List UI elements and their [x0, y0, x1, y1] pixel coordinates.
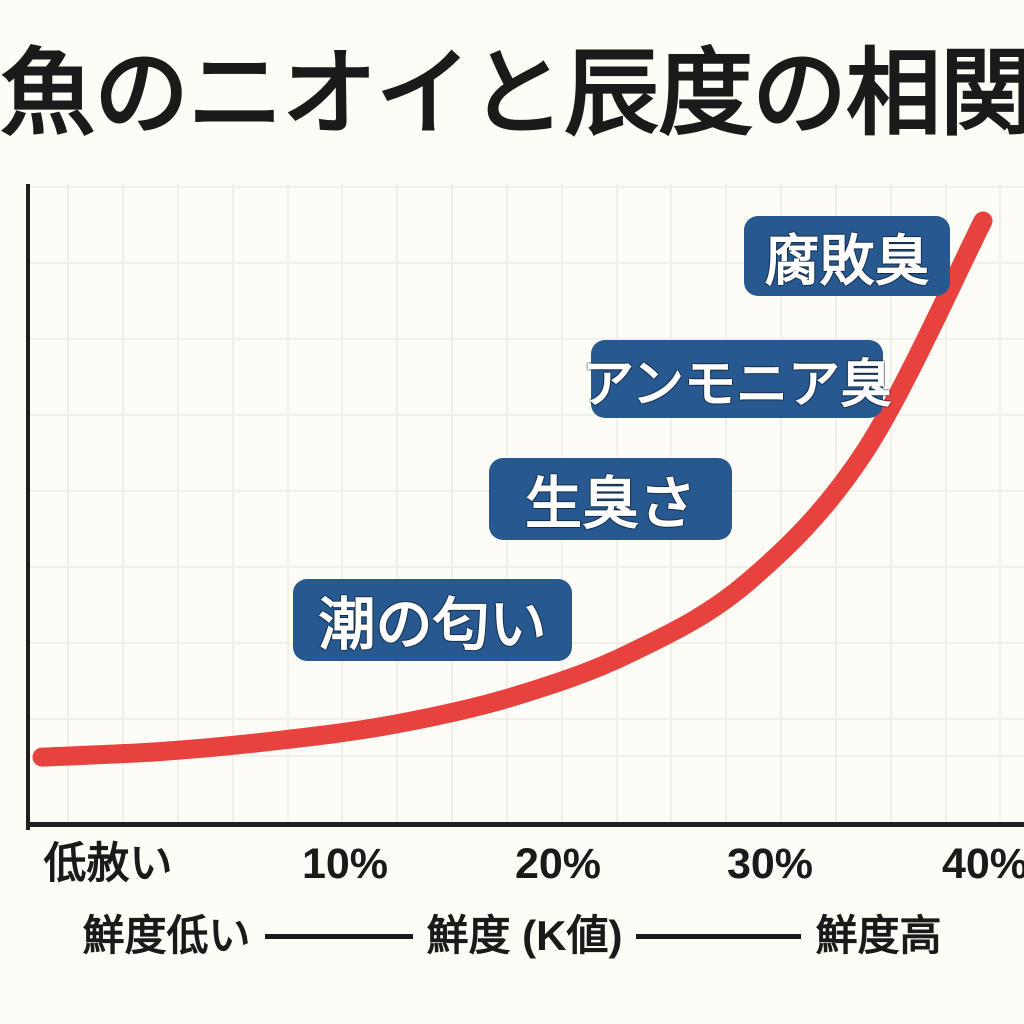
x-tick-label-0: 低赦い [18, 838, 198, 890]
caption-rule-left [265, 934, 413, 939]
x-tick-label-3: 30% [690, 838, 850, 890]
gridline-horizontal [27, 338, 1024, 340]
gridline-horizontal [27, 566, 1024, 568]
y-axis-line [26, 184, 30, 830]
x-axis-caption-center: 鮮度 (K値) [427, 905, 623, 967]
gridline-vertical [67, 184, 69, 826]
gridline-vertical [232, 184, 234, 826]
page-title: 魚のニオイと辰度の相関関係 [0, 36, 1024, 152]
x-axis-caption: 鮮度低い 鮮度 (K値) 鮮度高 [0, 905, 1024, 967]
x-tick-label-1: 10% [265, 838, 425, 890]
annotation-badge-fuhaishu[interactable]: 腐敗臭 [744, 216, 950, 296]
caption-rule-right [636, 934, 801, 939]
annotation-badge-label: 腐敗臭 [764, 216, 929, 296]
gridline-horizontal [27, 186, 1024, 188]
annotation-badge-ammonia[interactable]: アンモニア臭 [591, 340, 883, 418]
annotation-badge-shio[interactable]: 潮の匂い [293, 579, 572, 661]
annotation-badge-label: 潮の匂い [319, 579, 547, 661]
x-tick-label-2: 20% [478, 838, 638, 890]
annotation-badge-namagusasa[interactable]: 生臭さ [489, 458, 732, 540]
gridline-horizontal [27, 718, 1024, 720]
annotation-badge-label: アンモニア臭 [582, 342, 892, 417]
gridline-vertical [287, 184, 289, 826]
gridline-vertical [177, 184, 179, 826]
gridline-vertical [999, 184, 1001, 826]
x-axis-caption-left: 鮮度低い [82, 905, 250, 967]
chart-canvas: 魚のニオイと辰度の相関関係 潮の匂い 生 [0, 0, 1024, 1024]
gridline-vertical [122, 184, 124, 826]
x-tick-label-4: 40% [905, 838, 1024, 890]
x-axis-caption-right: 鮮度高 [815, 905, 941, 967]
gridline-vertical [341, 184, 343, 826]
annotation-badge-label: 生臭さ [525, 458, 696, 540]
x-axis-line [26, 822, 1024, 827]
gridline-horizontal [27, 755, 1024, 757]
gridline-vertical [451, 184, 453, 826]
gridline-vertical [396, 184, 398, 826]
